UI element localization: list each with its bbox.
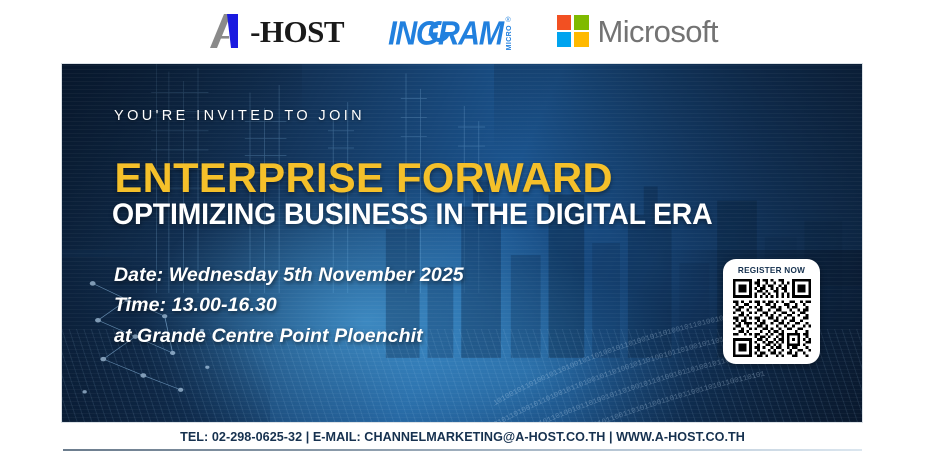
event-venue: at Grande Centre Point Ploenchit [114,321,464,351]
footer-divider [63,449,862,451]
register-now-label: REGISTER NOW [738,266,805,275]
ahost-logo-text: -HOST [250,16,344,47]
event-date: Date: Wednesday 5th November 2025 [114,260,464,290]
registered-trademark-icon: ® [506,17,511,24]
microsoft-logo: Microsoft [557,11,718,51]
register-now-card[interactable]: REGISTER NOW [723,259,820,364]
contact-footer: TEL: 02-298-0625-32 | E-MAIL: CHANNELMAR… [0,424,925,462]
microsoft-logo-text: Microsoft [598,16,718,47]
footer-contact-text: TEL: 02-298-0625-32 | E-MAIL: CHANNELMAR… [180,430,745,444]
ingram-micro-text: MICRO [506,25,513,50]
banner-content: YOU'RE INVITED TO JOIN ENTERPRISE FORWAR… [62,64,862,422]
partner-logo-bar: -HOST INGRAM ® MICRO Microsoft [0,0,925,62]
a-host-mark-icon [207,12,253,50]
invitation-kicker: YOU'RE INVITED TO JOIN [114,108,365,124]
event-details: Date: Wednesday 5th November 2025 Time: … [114,260,464,351]
microsoft-squares-icon [557,15,589,47]
event-subheadline: OPTIMIZING BUSINESS IN THE DIGITAL ERA [112,200,713,230]
event-banner: 1011010010110100101101001011010010110100… [62,64,862,422]
ahost-logo: -HOST [207,11,344,51]
event-headline: ENTERPRISE FORWARD [115,157,613,199]
event-time: Time: 13.00-16.30 [114,290,464,320]
ingram-micro-logo: INGRAM ® MICRO [388,11,512,51]
qr-code-icon[interactable] [733,279,811,357]
ingram-side-marks: ® MICRO [506,17,513,51]
